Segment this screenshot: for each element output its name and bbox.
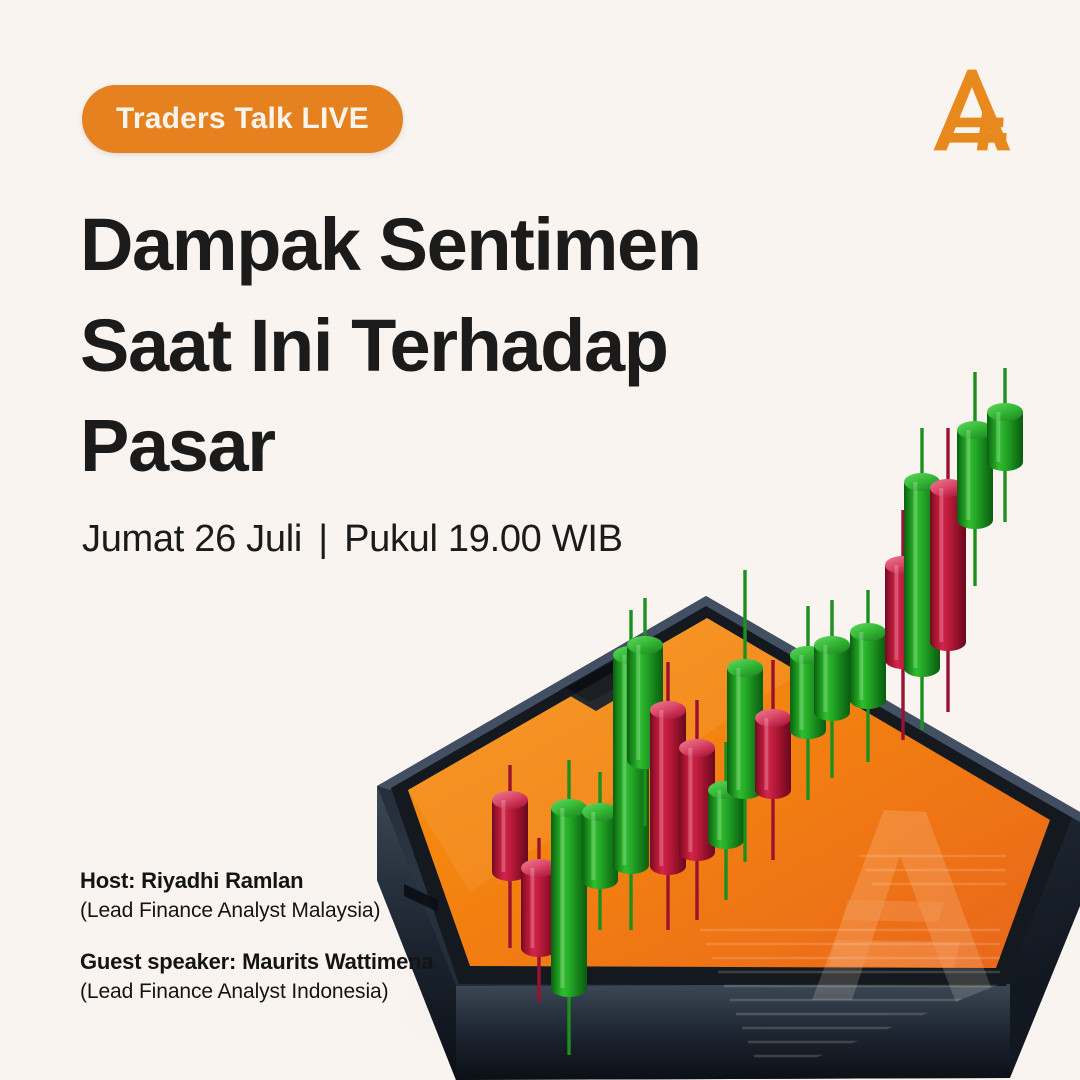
credit-guest-name: Guest speaker: Maurits Wattimena xyxy=(80,949,433,975)
page-title: Dampak Sentimen Saat Ini Terhadap Pasar xyxy=(80,195,840,497)
live-badge-label: Traders Talk LIVE xyxy=(116,102,369,136)
headline-line-2: Saat Ini Terhadap xyxy=(80,296,840,397)
headline-line-1: Dampak Sentimen xyxy=(80,195,840,296)
headline-line-3: Pasar xyxy=(80,396,840,497)
poster-canvas: Traders Talk LIVE Dampak Sentimen Saat I… xyxy=(0,0,1080,1080)
credits-block: Host: Riyadhi Ramlan (Lead Finance Analy… xyxy=(80,868,433,1004)
credit-guest-role: (Lead Finance Analyst Indonesia) xyxy=(80,980,433,1004)
credit-guest: Guest speaker: Maurits Wattimena (Lead F… xyxy=(80,949,433,1004)
schedule-date: Jumat 26 Juli xyxy=(82,518,302,560)
live-badge[interactable]: Traders Talk LIVE xyxy=(82,85,403,153)
credit-host: Host: Riyadhi Ramlan (Lead Finance Analy… xyxy=(80,868,433,923)
octa-a-logo xyxy=(922,62,1018,158)
credit-host-role: (Lead Finance Analyst Malaysia) xyxy=(80,899,433,923)
schedule-line: Jumat 26 Juli | Pukul 19.00 WIB xyxy=(82,518,623,561)
schedule-separator: | xyxy=(312,518,334,561)
schedule-time: Pukul 19.00 WIB xyxy=(344,518,623,560)
credit-host-name: Host: Riyadhi Ramlan xyxy=(80,868,433,894)
